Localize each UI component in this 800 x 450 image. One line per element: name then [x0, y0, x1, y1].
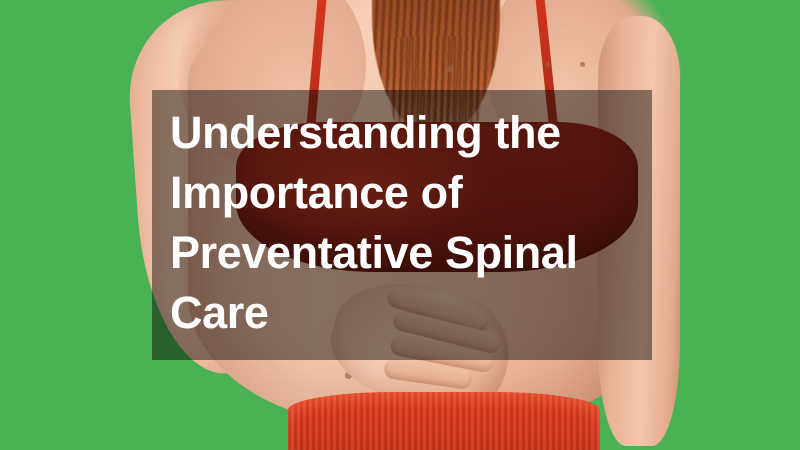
skin-mole: [447, 66, 453, 72]
shorts-waistband: [288, 392, 600, 450]
headline-title: Understanding the Importance of Preventa…: [170, 103, 640, 343]
skin-mole: [545, 62, 550, 67]
banner-image: Understanding the Importance of Preventa…: [0, 0, 800, 450]
skin-mole: [580, 62, 585, 67]
